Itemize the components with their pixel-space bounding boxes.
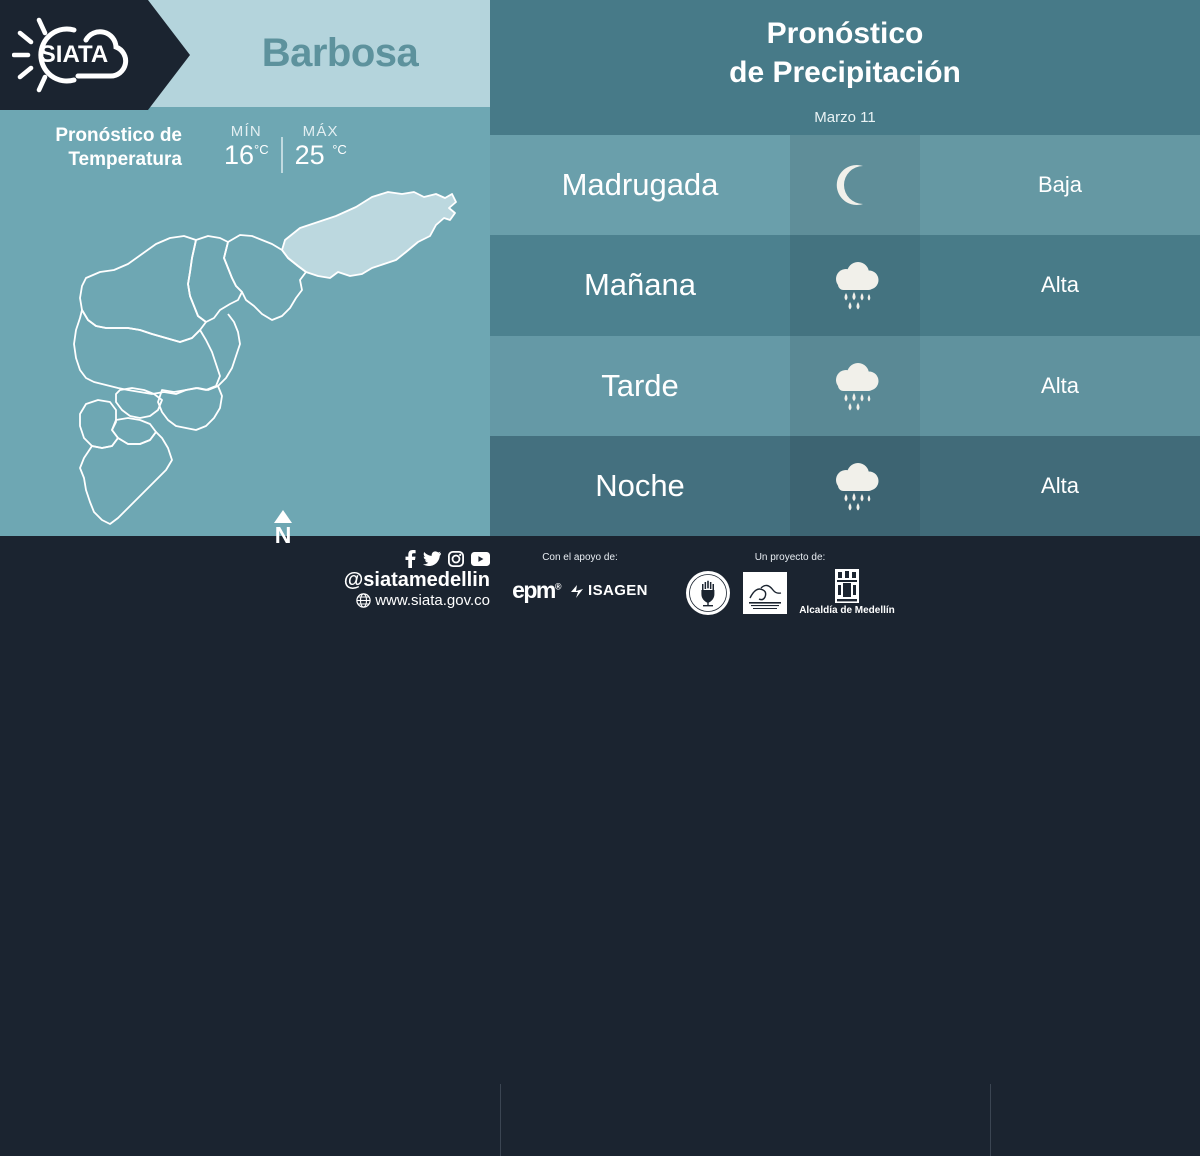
social-block: @siatamedellin www.siata.gov.co (300, 550, 490, 609)
epm-logo[interactable]: epm® (512, 577, 560, 604)
forecast-period: Mañana (490, 235, 790, 335)
temperature-max-label: MÁX (295, 123, 347, 140)
alcaldia-medellin-logo[interactable]: Alcaldía de Medellín (799, 569, 895, 616)
forecast-title-line2: de Precipitación (490, 53, 1200, 92)
alcaldia-label: Alcaldía de Medellín (799, 605, 895, 616)
forecast-table: Madrugada Baja Mañana (490, 135, 1200, 536)
support-block: Con el apoyo de: epm® ISAGEN (505, 552, 655, 604)
map-region-medellin[interactable] (74, 310, 220, 394)
footer: @siatamedellin www.siata.gov.co Con el a… (0, 536, 1200, 630)
website-line[interactable]: www.siata.gov.co (300, 592, 490, 609)
crescent-moon-icon (790, 135, 920, 235)
precipitation-level: Alta (920, 336, 1200, 436)
precipitation-level: Alta (920, 436, 1200, 536)
temperature-max-unit: °C (332, 142, 347, 157)
temperature-heading: Pronóstico de Temperatura (0, 124, 190, 173)
area-metropolitana-logo[interactable] (743, 572, 787, 614)
temperature-min-value: 16°C (224, 142, 269, 169)
precipitation-level: Alta (920, 235, 1200, 335)
temperature-values: MÍN 16°C MÁX 25 °C (190, 123, 359, 173)
forecast-header: Pronóstico de Precipitación Marzo 11 (490, 0, 1200, 135)
project-block: Un proyecto de: (660, 552, 920, 616)
table-row[interactable]: Mañana (490, 235, 1200, 335)
universidad-de-medellin-seal[interactable] (685, 570, 731, 616)
forecast-title: Pronóstico de Precipitación (490, 14, 1200, 92)
temperature-min-label: MÍN (224, 123, 269, 140)
globe-icon (356, 593, 371, 608)
temperature-min: MÍN 16°C (212, 123, 281, 169)
map-region-caldas[interactable] (80, 432, 172, 524)
forecast-title-line1: Pronóstico (490, 14, 1200, 53)
support-logos: epm® ISAGEN (505, 577, 655, 604)
compass-label: N (274, 524, 292, 547)
forecast-date: Marzo 11 (490, 109, 1200, 126)
isagen-mark-icon (570, 583, 586, 599)
forecast-period: Noche (490, 436, 790, 536)
table-row[interactable]: Noche (490, 436, 1200, 536)
temperature-max: MÁX 25 °C (283, 123, 359, 169)
temperature-max-value: 25 °C (295, 142, 347, 169)
infographic-root: SIATA Barbosa Pronóstico de Temperatura … (0, 0, 1200, 630)
twitter-icon[interactable] (423, 551, 441, 567)
rain-cloud-icon (790, 336, 920, 436)
temperature-heading-line2: Temperatura (0, 148, 182, 172)
forecast-period: Tarde (490, 336, 790, 436)
table-row[interactable]: Tarde (490, 336, 1200, 436)
temperature-block: Pronóstico de Temperatura MÍN 16°C MÁX 2… (0, 112, 490, 184)
left-panel: SIATA Barbosa Pronóstico de Temperatura … (0, 0, 490, 536)
right-panel: Pronóstico de Precipitación Marzo 11 Mad… (490, 0, 1200, 536)
social-icons (300, 550, 490, 568)
support-caption: Con el apoyo de: (505, 552, 655, 563)
project-caption: Un proyecto de: (660, 552, 920, 563)
rain-cloud-icon (790, 436, 920, 536)
alcaldia-mark-icon (835, 569, 859, 603)
sun-cloud-icon: SIATA (12, 14, 138, 96)
temperature-min-unit: °C (254, 142, 269, 157)
north-arrow-icon: N (274, 510, 292, 547)
forecast-period: Madrugada (490, 135, 790, 235)
temperature-divider (281, 137, 283, 173)
svg-text:SIATA: SIATA (40, 41, 108, 68)
city-title: Barbosa (190, 0, 490, 107)
footer-divider (500, 1084, 501, 1156)
map-region-la-estrella[interactable] (80, 400, 118, 448)
table-row[interactable]: Madrugada Baja (490, 135, 1200, 235)
website-text: www.siata.gov.co (375, 592, 490, 609)
isagen-label: ISAGEN (588, 582, 648, 599)
isagen-logo[interactable]: ISAGEN (570, 582, 648, 599)
aburra-valley-map: N (0, 180, 490, 536)
footer-divider (990, 1084, 991, 1156)
project-logos: Alcaldía de Medellín (660, 569, 920, 616)
map-region-barbosa[interactable] (282, 192, 456, 278)
instagram-icon[interactable] (448, 551, 464, 567)
social-handle[interactable]: @siatamedellin (300, 569, 490, 592)
map-svg (0, 180, 490, 536)
map-region-east-edge (218, 314, 240, 386)
facebook-icon[interactable] (405, 550, 416, 568)
rain-cloud-icon (790, 235, 920, 335)
precipitation-level: Baja (920, 135, 1200, 235)
temperature-heading-line1: Pronóstico de (0, 124, 182, 148)
youtube-icon[interactable] (471, 552, 490, 566)
